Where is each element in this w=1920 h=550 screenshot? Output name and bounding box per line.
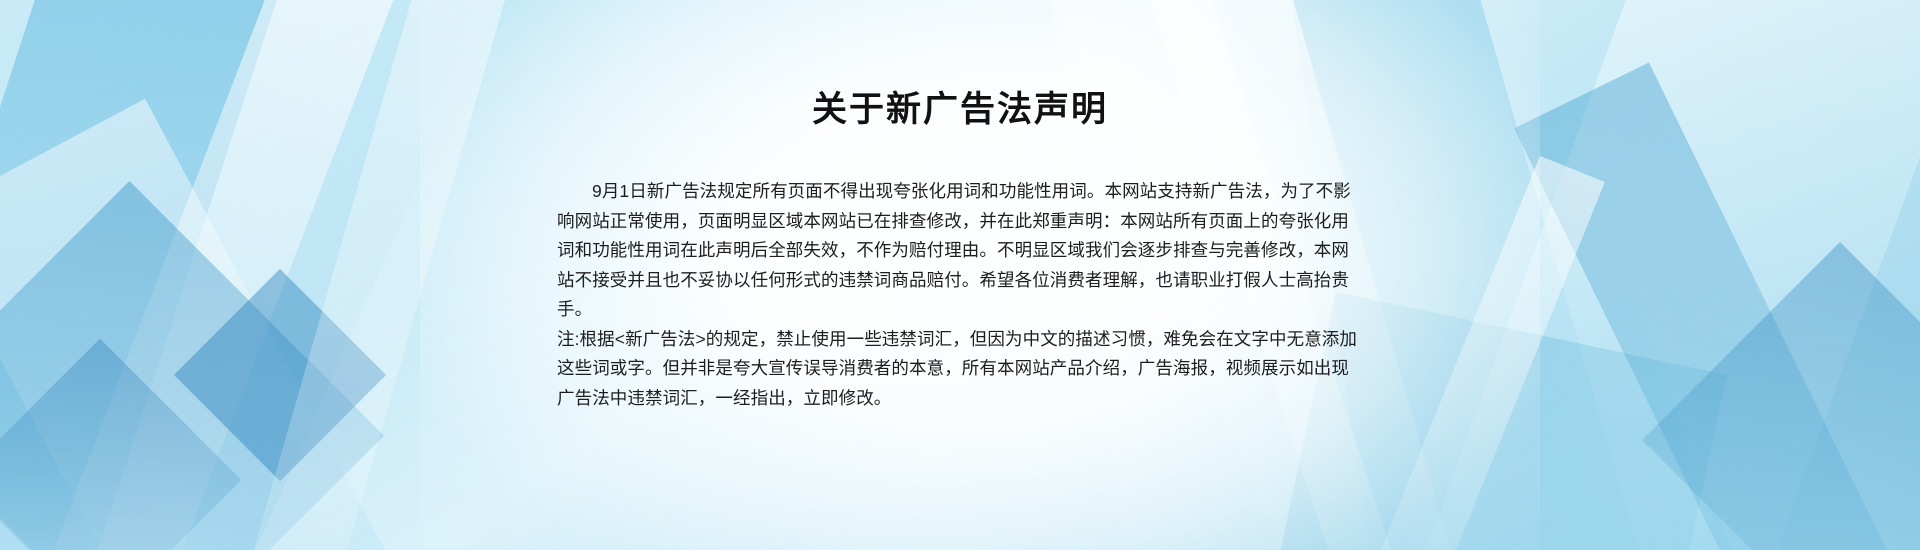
statement-paragraph-note: 注:根据<新广告法>的规定，禁止使用一些违禁词汇，但因为中文的描述习惯，难免会在… [557,325,1363,414]
statement-paragraph-main: 9月1日新广告法规定所有页面不得出现夸张化用词和功能性用词。本网站支持新广告法，… [557,177,1363,325]
advertising-law-statement-banner: 关于新广告法声明 9月1日新广告法规定所有页面不得出现夸张化用词和功能性用词。本… [0,0,1920,550]
statement-content: 关于新广告法声明 9月1日新广告法规定所有页面不得出现夸张化用词和功能性用词。本… [0,0,1920,550]
statement-body: 9月1日新广告法规定所有页面不得出现夸张化用词和功能性用词。本网站支持新广告法，… [557,177,1363,413]
page-title: 关于新广告法声明 [812,88,1108,132]
